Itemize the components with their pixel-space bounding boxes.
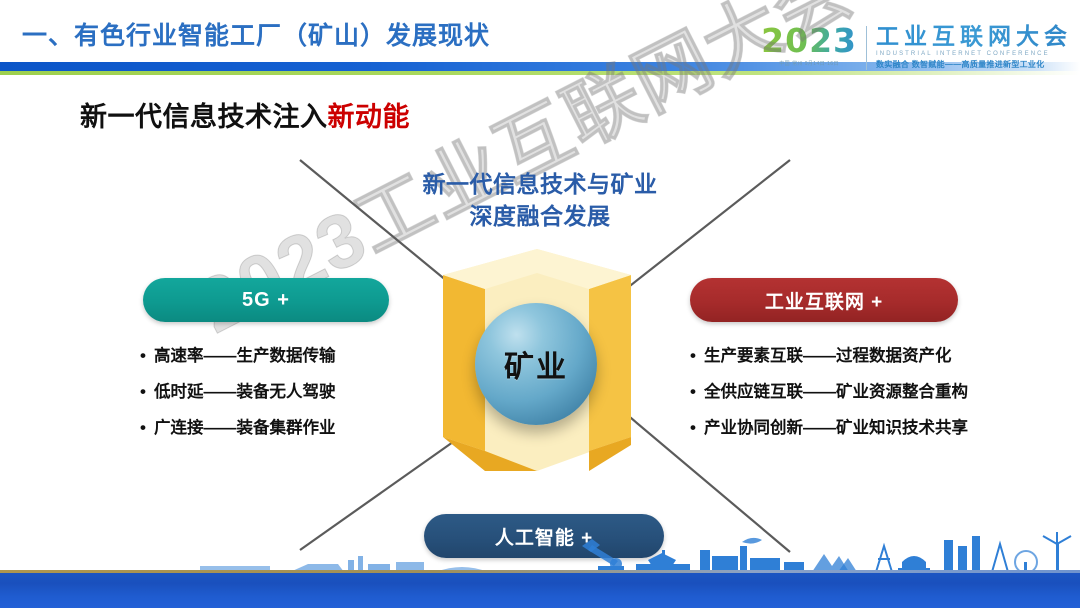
list-item: 生产要素互联——过程数据资产化 [690,338,1030,374]
diagram-center-title: 新一代信息技术与矿业 深度融合发展 [390,168,690,232]
page-title-black: 新一代信息技术注入 [80,102,328,132]
list-item: 全供应链互联——矿业资源整合重构 [690,374,1030,410]
list-item: 产业协同创新——矿业知识技术共享 [690,410,1030,446]
page-title-red: 新动能 [328,102,411,132]
footer-sea-band [0,570,1080,608]
node-pill-5g[interactable]: 5G + [143,278,389,322]
slide: 一、有色行业智能工厂（矿山）发展现状 2023 中国·常州 9月14日-16日 … [0,0,1080,608]
page-title: 新一代信息技术注入新动能 [80,95,410,134]
list-item: 广连接——装备集群作业 [140,410,440,446]
conference-logo: 2023 中国·常州 9月14日-16日 工业互联网大会 INDUSTRIAL … [761,24,1072,76]
logo-year-block: 2023 中国·常州 9月14日-16日 [761,24,866,67]
list-item: 低时延——装备无人驾驶 [140,374,440,410]
skyline-silhouette-icon [0,526,1080,572]
logo-name-en: INDUSTRIAL INTERNET CONFERENCE [876,51,1072,57]
section-title: 一、有色行业智能工厂（矿山）发展现状 [22,16,490,52]
core-cube: 矿业 [425,245,650,480]
logo-year: 2023 [761,24,857,58]
core-sphere: 矿业 [475,303,597,425]
node-items-5g: 高速率——生产数据传输 低时延——装备无人驾驶 广连接——装备集群作业 [140,338,440,446]
logo-name-cn: 工业互联网大会 [876,24,1072,49]
footer-skyline [0,530,1080,608]
core-sphere-label: 矿业 [504,342,568,386]
center-title-line1: 新一代信息技术与矿业 [390,168,690,200]
list-item: 高速率——生产数据传输 [140,338,440,374]
diagram: 新一代信息技术与矿业 深度融合发展 矿业 5G + 工业互联网 + 人工智能 + [0,140,1080,560]
logo-slogan: 数实融合 数智赋能——高质量推进新型工业化 [876,59,1072,70]
node-pill-iiot[interactable]: 工业互联网 + [690,278,958,322]
node-items-iiot: 生产要素互联——过程数据资产化 全供应链互联——矿业资源整合重构 产业协同创新—… [690,338,1030,446]
logo-year-subtext: 中国·常州 9月14日-16日 [779,60,839,67]
logo-name-block: 工业互联网大会 INDUSTRIAL INTERNET CONFERENCE 数… [867,24,1072,70]
center-title-line2: 深度融合发展 [390,200,690,232]
